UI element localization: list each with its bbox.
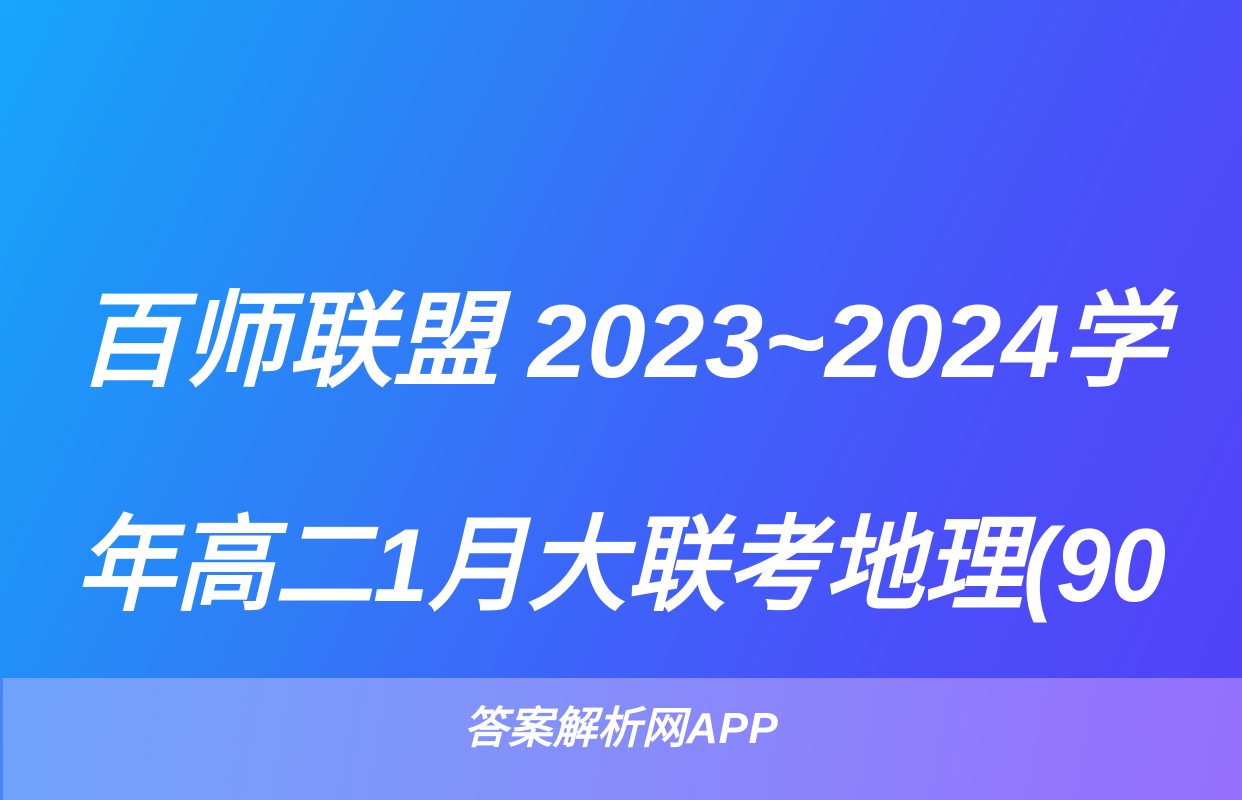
poster-canvas: 百师联盟 2023~2024学 年高二1月大联考地理(90 分卷)答案 答案解析… [0, 0, 1242, 800]
footer-band: 答案解析网APP [0, 678, 1242, 800]
title-line-1: 百师联盟 2023~2024学 [18, 286, 1224, 398]
title-line-2: 年高二1月大联考地理(90 [56, 510, 1186, 622]
watermark-brand-label: 答案解析网APP [0, 704, 1242, 754]
